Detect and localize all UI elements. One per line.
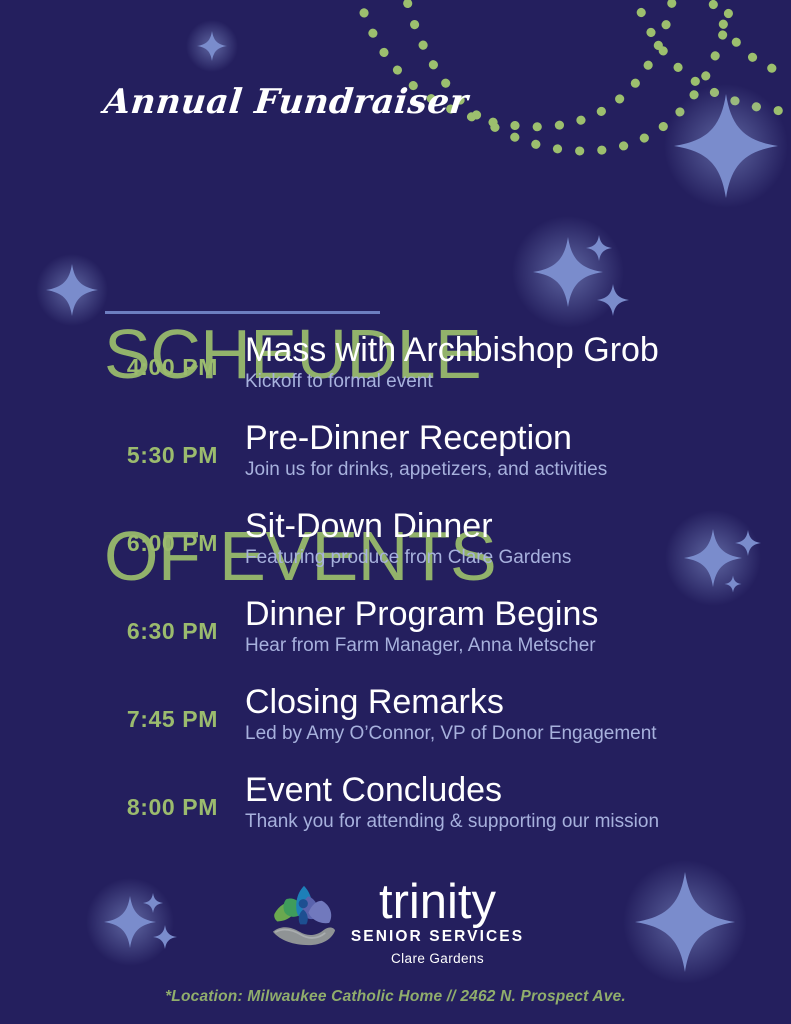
star-sparkle-top-left (186, 20, 238, 72)
schedule-row-subtitle: Led by Amy O’Connor, VP of Donor Engagem… (245, 723, 781, 746)
trinity-lotus-hand-icon (267, 879, 341, 955)
eyebrow-text: Annual Fundraiser (102, 82, 470, 122)
footer-location-note: *Location: Milwaukee Catholic Home // 24… (0, 988, 791, 1006)
schedule-row-time: 8:00 PM (0, 794, 218, 821)
schedule-row-subtitle: Kickoff to formal event (245, 371, 781, 394)
schedule-row-subtitle: Featuring produce from Clare Gardens (245, 547, 781, 570)
schedule-row-content: Pre-Dinner Reception Join us for drinks,… (245, 420, 781, 482)
garland-dots-group (352, 0, 791, 151)
schedule-row-title: Event Concludes (245, 772, 781, 809)
title-divider (105, 311, 380, 314)
logo-tagline: SENIOR SERVICES (351, 928, 524, 946)
schedule-row-time: 6:30 PM (0, 618, 218, 645)
schedule-row-content: Sit-Down Dinner Featuring produce from C… (245, 508, 781, 570)
schedule-row: 5:30 PM Pre-Dinner Reception Join us for… (0, 420, 791, 508)
schedule-row-content: Closing Remarks Led by Amy O’Connor, VP … (245, 684, 781, 746)
schedule-row: 7:45 PM Closing Remarks Led by Amy O’Con… (0, 684, 791, 772)
schedule-row-title: Sit-Down Dinner (245, 508, 781, 545)
schedule-row-title: Mass with Archbishop Grob (245, 332, 781, 369)
schedule-list: 4:00 PM Mass with Archbishop Grob Kickof… (0, 332, 791, 860)
schedule-row-time: 7:45 PM (0, 706, 218, 733)
schedule-row: 8:00 PM Event Concludes Thank you for at… (0, 772, 791, 860)
logo-wordmark: trinity (379, 880, 496, 925)
star-sparkle-top-right (664, 84, 788, 208)
schedule-row: 6:00 PM Sit-Down Dinner Featuring produc… (0, 508, 791, 596)
poster-canvas: .gdot { fill: #9cbf6e; } .garland { fill… (0, 0, 791, 1024)
schedule-row-time: 5:30 PM (0, 442, 218, 469)
schedule-row-subtitle: Join us for drinks, appetizers, and acti… (245, 459, 781, 482)
organization-logo: trinity SENIOR SERVICES Clare Gardens (0, 876, 791, 966)
schedule-row-subtitle: Hear from Farm Manager, Anna Metscher (245, 635, 781, 658)
schedule-row-time: 4:00 PM (0, 354, 218, 381)
star-cluster-title-right (512, 216, 629, 328)
schedule-row: 6:30 PM Dinner Program Begins Hear from … (0, 596, 791, 684)
schedule-row-content: Dinner Program Begins Hear from Farm Man… (245, 596, 781, 658)
schedule-row-title: Closing Remarks (245, 684, 781, 721)
logo-subtagline: Clare Gardens (391, 951, 484, 966)
star-sparkle-left-mid (36, 254, 108, 326)
schedule-row-time: 6:00 PM (0, 530, 218, 557)
schedule-row-title: Pre-Dinner Reception (245, 420, 781, 457)
schedule-row-title: Dinner Program Begins (245, 596, 781, 633)
schedule-row-content: Mass with Archbishop Grob Kickoff to for… (245, 332, 781, 394)
schedule-row-subtitle: Thank you for attending & supporting our… (245, 811, 781, 834)
schedule-row-content: Event Concludes Thank you for attending … (245, 772, 781, 834)
schedule-row: 4:00 PM Mass with Archbishop Grob Kickof… (0, 332, 791, 420)
